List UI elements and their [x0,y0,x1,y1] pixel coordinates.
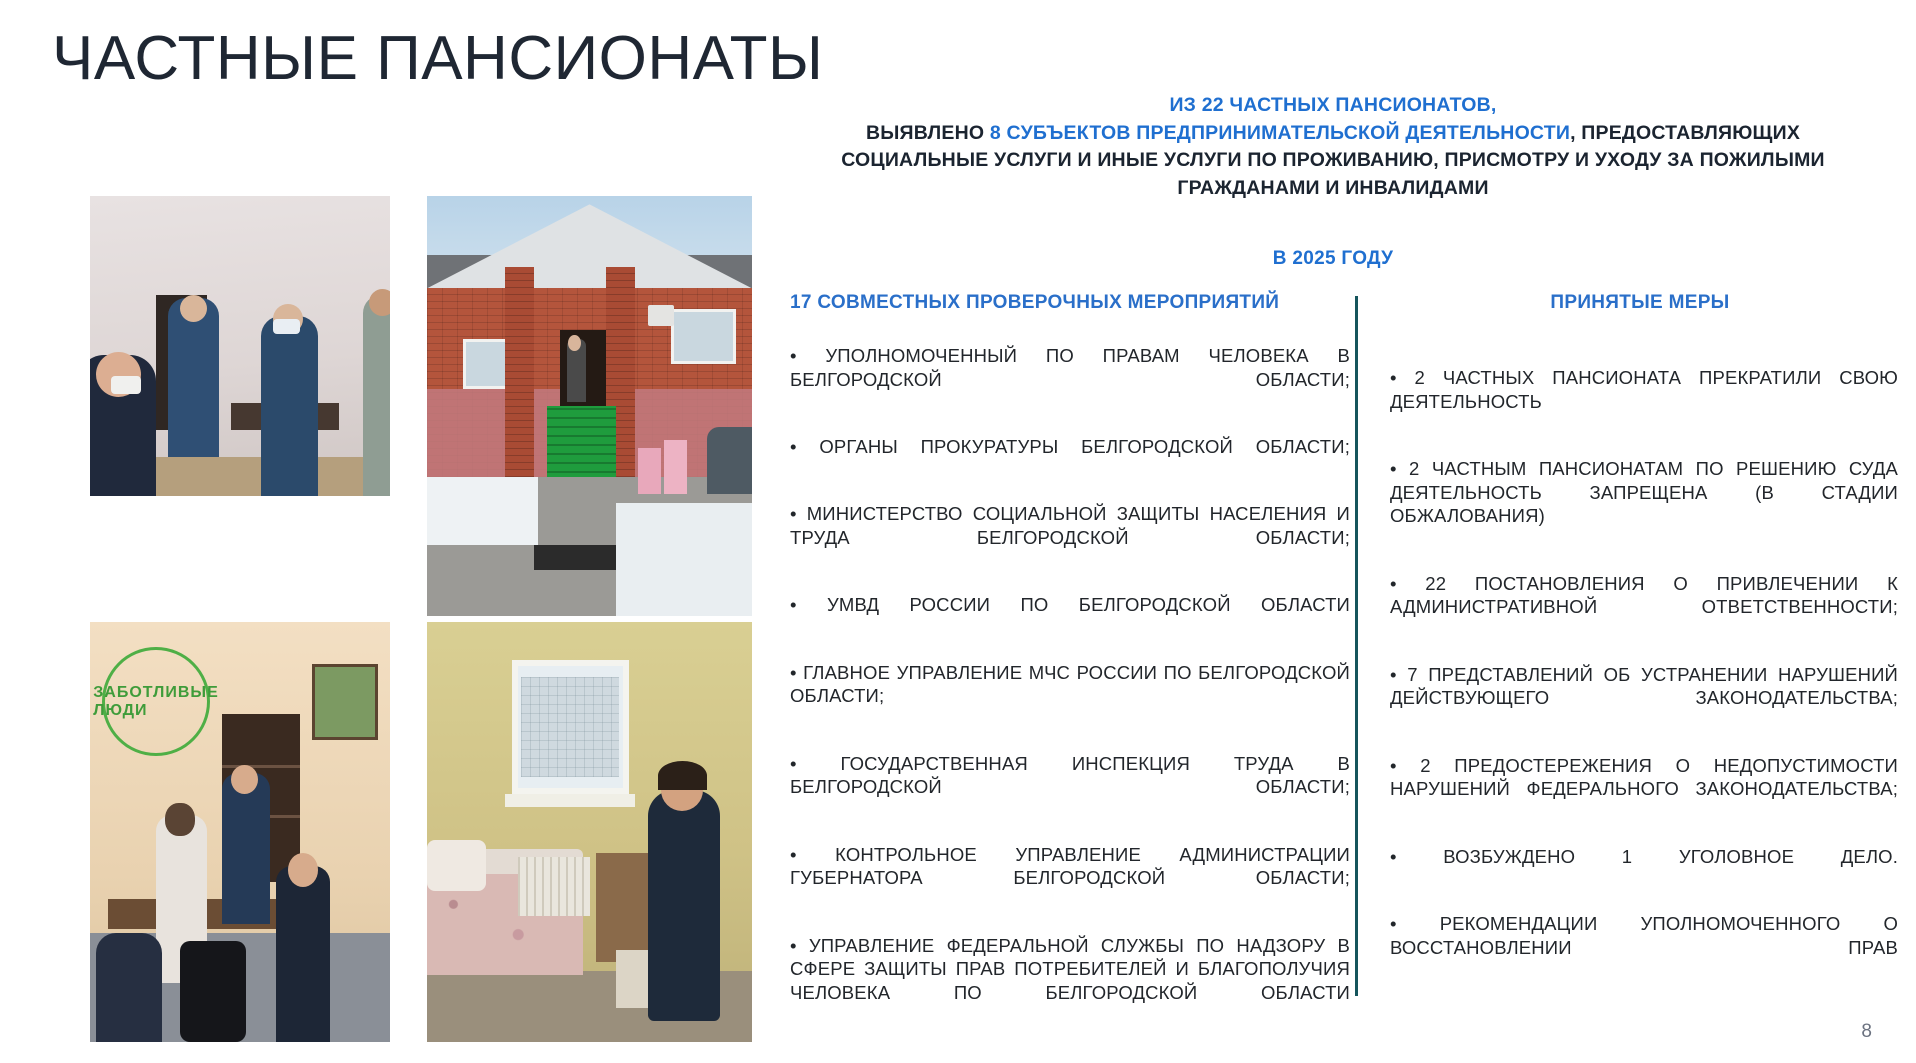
photo3-head-2 [165,803,195,837]
list-item-text: • 2 ЧАСТНЫХ ПАНСИОНАТА ПРЕКРАТИЛИ СВОЮ Д… [1390,366,1898,437]
photo1-mask-2 [111,376,141,394]
photo2-snow-left [427,477,538,544]
list-item-text: • УМВД РОССИИ ПО БЕЛГОРОДСКОЙ ОБЛАСТИ [790,593,1350,640]
photo4-window-sill [505,794,635,807]
slide-root: ЧАСТНЫЕ ПАНСИОНАТЫ [0,0,1916,1063]
photo3-logo-text: ЗАБОТЛИВЫЕ ЛЮДИ [93,684,219,720]
photo-inspection-office [90,196,390,496]
list-item: • 2 ЧАСТНЫМ ПАНСИОНАТАМ ПО РЕШЕНИЮ СУДА … [1390,457,1898,552]
photo-bedroom [427,622,752,1042]
page-number: 8 [1861,1021,1872,1043]
photo1-person-right [363,295,390,496]
photo1-officer [261,316,318,496]
photo2-car [707,427,753,494]
photo3-chair [180,941,246,1042]
list-item: • КОНТРОЛЬНОЕ УПРАВЛЕНИЕ АДМИНИСТРАЦИИ Г… [790,843,1350,914]
header-statement: ИЗ 22 ЧАСТНЫХ ПАНСИОНАТОВ, ВЫЯВЛЕНО 8 СУ… [828,92,1838,203]
photo4-cabinet [596,853,648,962]
photo3-person-dark [276,866,330,1042]
photo4-woman-hair [658,761,707,790]
list-item-text: • 2 ЧАСТНЫМ ПАНСИОНАТАМ ПО РЕШЕНИЮ СУДА … [1390,457,1898,552]
photo3-head-3 [288,853,318,887]
photo2-green-steps [547,406,615,482]
list-item-text: • ГЛАВНОЕ УПРАВЛЕНИЕ МЧС РОССИИ ПО БЕЛГО… [790,661,1350,732]
list-item: • 2 ПРЕДОСТЕРЕЖЕНИЯ О НЕДОПУСТИМОСТИ НАР… [1390,754,1898,825]
left-bullet-list: • УПОЛНОМОЧЕННЫЙ ПО ПРАВАМ ЧЕЛОВЕКА В БЕ… [790,344,1350,1028]
header-line-2-suffix: , ПРЕДОСТАВЛЯЮЩИХ [1570,122,1800,144]
photo2-pink-box-2 [664,440,687,495]
photo2-snow-right [616,503,753,616]
list-item: • 2 ЧАСТНЫХ ПАНСИОНАТА ПРЕКРАТИЛИ СВОЮ Д… [1390,366,1898,437]
list-item-text: • КОНТРОЛЬНОЕ УПРАВЛЕНИЕ АДМИНИСТРАЦИИ Г… [790,843,1350,914]
air-conditioner-icon [648,305,674,326]
photo3-officer [222,773,270,924]
list-item-text: • ВОЗБУЖДЕНО 1 УГОЛОВНОЕ ДЕЛО. [1390,845,1898,892]
list-item-text: • УПРАВЛЕНИЕ ФЕДЕРАЛЬНОЙ СЛУЖБЫ ПО НАДЗО… [790,934,1350,1029]
list-item-text: • РЕКОМЕНДАЦИИ УПОЛНОМОЧЕННОГО О ВОССТАН… [1390,912,1898,983]
photo3-wall-picture [312,664,378,740]
photo-brick-house [427,196,752,616]
header-line-4: ГРАЖДАНАМИ И ИНВАЛИДАМИ [828,175,1838,203]
photo2-column-left [505,267,534,477]
list-item: • 7 ПРЕДСТАВЛЕНИЙ ОБ УСТРАНЕНИИ НАРУШЕНИ… [1390,663,1898,734]
photo3-head-1 [231,765,258,794]
photo4-pillow [427,840,486,890]
list-item: • ОРГАНЫ ПРОКУРАТУРЫ БЕЛГОРОДСКОЙ ОБЛАСТ… [790,435,1350,482]
photo2-window-left [463,339,509,389]
photo4-window-pane [521,677,619,778]
list-item: • УМВД РОССИИ ПО БЕЛГОРОДСКОЙ ОБЛАСТИ [790,593,1350,640]
list-item: • МИНИСТЕРСТВО СОЦИАЛЬНОЙ ЗАЩИТЫ НАСЕЛЕН… [790,502,1350,573]
list-item-text: • ОРГАНЫ ПРОКУРАТУРЫ БЕЛГОРОДСКОЙ ОБЛАСТ… [790,435,1350,482]
list-item: • УПОЛНОМОЧЕННЫЙ ПО ПРАВАМ ЧЕЛОВЕКА В БЕ… [790,344,1350,415]
list-item-text: • 22 ПОСТАНОВЛЕНИЯ О ПРИВЛЕЧЕНИИ К АДМИН… [1390,572,1898,643]
photo3-person-front [96,933,162,1042]
year-label: В 2025 ГОДУ [828,248,1838,270]
right-bullet-list: • 2 ЧАСТНЫХ ПАНСИОНАТА ПРЕКРАТИЛИ СВОЮ Д… [1390,366,1898,983]
photo1-head-1 [180,295,207,322]
list-item: • РЕКОМЕНДАЦИИ УПОЛНОМОЧЕННОГО О ВОССТАН… [1390,912,1898,983]
list-item-text: • 2 ПРЕДОСТЕРЕЖЕНИЯ О НЕДОПУСТИМОСТИ НАР… [1390,754,1898,825]
photo4-radiator [518,857,590,916]
list-item-text: • ГОСУДАРСТВЕННАЯ ИНСПЕКЦИЯ ТРУДА В БЕЛГ… [790,752,1350,823]
left-column-heading: 17 СОВМЕСТНЫХ ПРОВЕРОЧНЫХ МЕРОПРИЯТИЙ [790,292,1330,314]
header-line-3: СОЦИАЛЬНЫЕ УСЛУГИ И ИНЫЕ УСЛУГИ ПО ПРОЖИ… [828,147,1838,175]
list-item-text: • МИНИСТЕРСТВО СОЦИАЛЬНОЙ ЗАЩИТЫ НАСЕЛЕН… [790,502,1350,573]
list-item: • ГОСУДАРСТВЕННАЯ ИНСПЕКЦИЯ ТРУДА В БЕЛГ… [790,752,1350,823]
list-item: • ГЛАВНОЕ УПРАВЛЕНИЕ МЧС РОССИИ ПО БЕЛГО… [790,661,1350,732]
list-item: • ВОЗБУЖДЕНО 1 УГОЛОВНОЕ ДЕЛО. [1390,845,1898,892]
zabotlivye-ludi-logo-icon: ЗАБОТЛИВЫЕ ЛЮДИ [102,647,210,756]
header-line-1: ИЗ 22 ЧАСТНЫХ ПАНСИОНАТОВ, [828,92,1838,120]
column-divider [1355,296,1358,996]
header-line-2-highlight: 8 СУБЪЕКТОВ ПРЕДПРИНИМАТЕЛЬСКОЙ ДЕЯТЕЛЬН… [990,122,1570,144]
list-item: • 22 ПОСТАНОВЛЕНИЯ О ПРИВЛЕЧЕНИИ К АДМИН… [1390,572,1898,643]
photo2-pink-box-1 [638,448,661,494]
page-title: ЧАСТНЫЕ ПАНСИОНАТЫ [52,28,823,90]
photo2-door-mat [534,545,615,570]
face-mask-icon [273,319,300,334]
right-column-heading: ПРИНЯТЫЕ МЕРЫ [1390,292,1890,314]
photo-office-logo: ЗАБОТЛИВЫЕ ЛЮДИ [90,622,390,1042]
list-item: • УПРАВЛЕНИЕ ФЕДЕРАЛЬНОЙ СЛУЖБЫ ПО НАДЗО… [790,934,1350,1029]
photo3-shelf-line-1 [222,765,300,768]
header-line-2-prefix: ВЫЯВЛЕНО [866,122,990,144]
photo4-woman [648,790,720,1021]
list-item-text: • 7 ПРЕДСТАВЛЕНИЙ ОБ УСТРАНЕНИИ НАРУШЕНИ… [1390,663,1898,734]
photo1-head-3 [369,289,390,316]
photo2-window-right [671,309,736,364]
list-item-text: • УПОЛНОМОЧЕННЫЙ ПО ПРАВАМ ЧЕЛОВЕКА В БЕ… [790,344,1350,415]
header-line-2: ВЫЯВЛЕНО 8 СУБЪЕКТОВ ПРЕДПРИНИМАТЕЛЬСКОЙ… [828,120,1838,148]
